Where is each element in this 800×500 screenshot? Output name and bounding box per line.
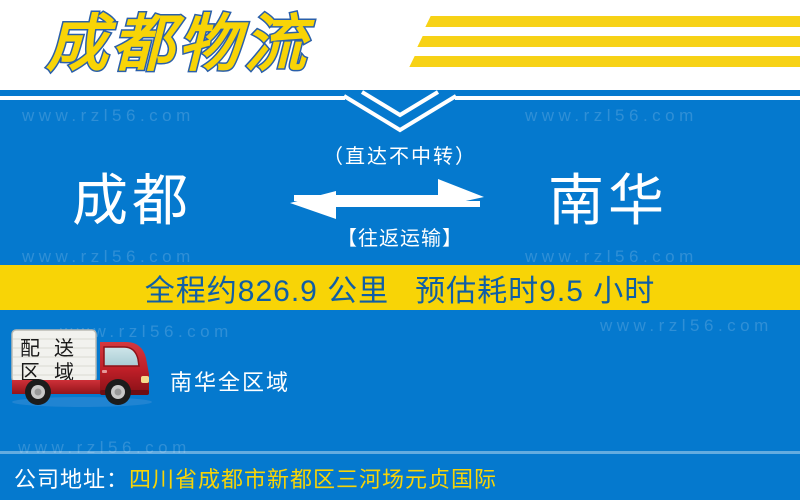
stripe-2 xyxy=(417,36,800,47)
banner-header: 成都物流 xyxy=(0,0,800,90)
page-title: 成都物流 xyxy=(46,2,310,88)
decorative-stripes xyxy=(410,14,800,76)
roundtrip-note: 【往返运输】 xyxy=(0,222,800,251)
logistics-banner: 成都物流 www.rzl56.com www.rzl56.com www.rzl… xyxy=(0,0,800,500)
svg-text:送: 送 xyxy=(54,337,74,360)
double-chevron-down-icon xyxy=(340,90,460,138)
watermark: www.rzl56.com xyxy=(600,316,773,336)
watermark: www.rzl56.com xyxy=(525,106,698,126)
watermark: www.rzl56.com xyxy=(22,106,195,126)
company-address: 公司地址：四川省成都市新都区三河场元贞国际 xyxy=(14,462,497,494)
direct-shipping-note: （直达不中转） xyxy=(0,140,800,169)
svg-text:配: 配 xyxy=(20,338,40,360)
bidirectional-arrow-icon xyxy=(288,177,486,221)
distance-text: 全程约826.9 公里 xyxy=(145,266,389,310)
delivery-area-label: 南华全区域 xyxy=(170,365,290,397)
watermark: www.rzl56.com xyxy=(18,438,191,458)
address-value: 四川省成都市新都区三河场元贞国际 xyxy=(129,467,497,492)
route-info-bar: 全程约826.9 公里 预估耗时9.5 小时 xyxy=(0,265,800,310)
stripe-3 xyxy=(409,56,800,67)
footer-divider xyxy=(0,451,800,454)
delivery-truck-icon: 配 送 区 域 xyxy=(8,328,160,408)
duration-text: 预估耗时9.5 小时 xyxy=(415,266,655,310)
address-label: 公司地址： xyxy=(14,467,129,492)
stripe-1 xyxy=(425,16,800,27)
